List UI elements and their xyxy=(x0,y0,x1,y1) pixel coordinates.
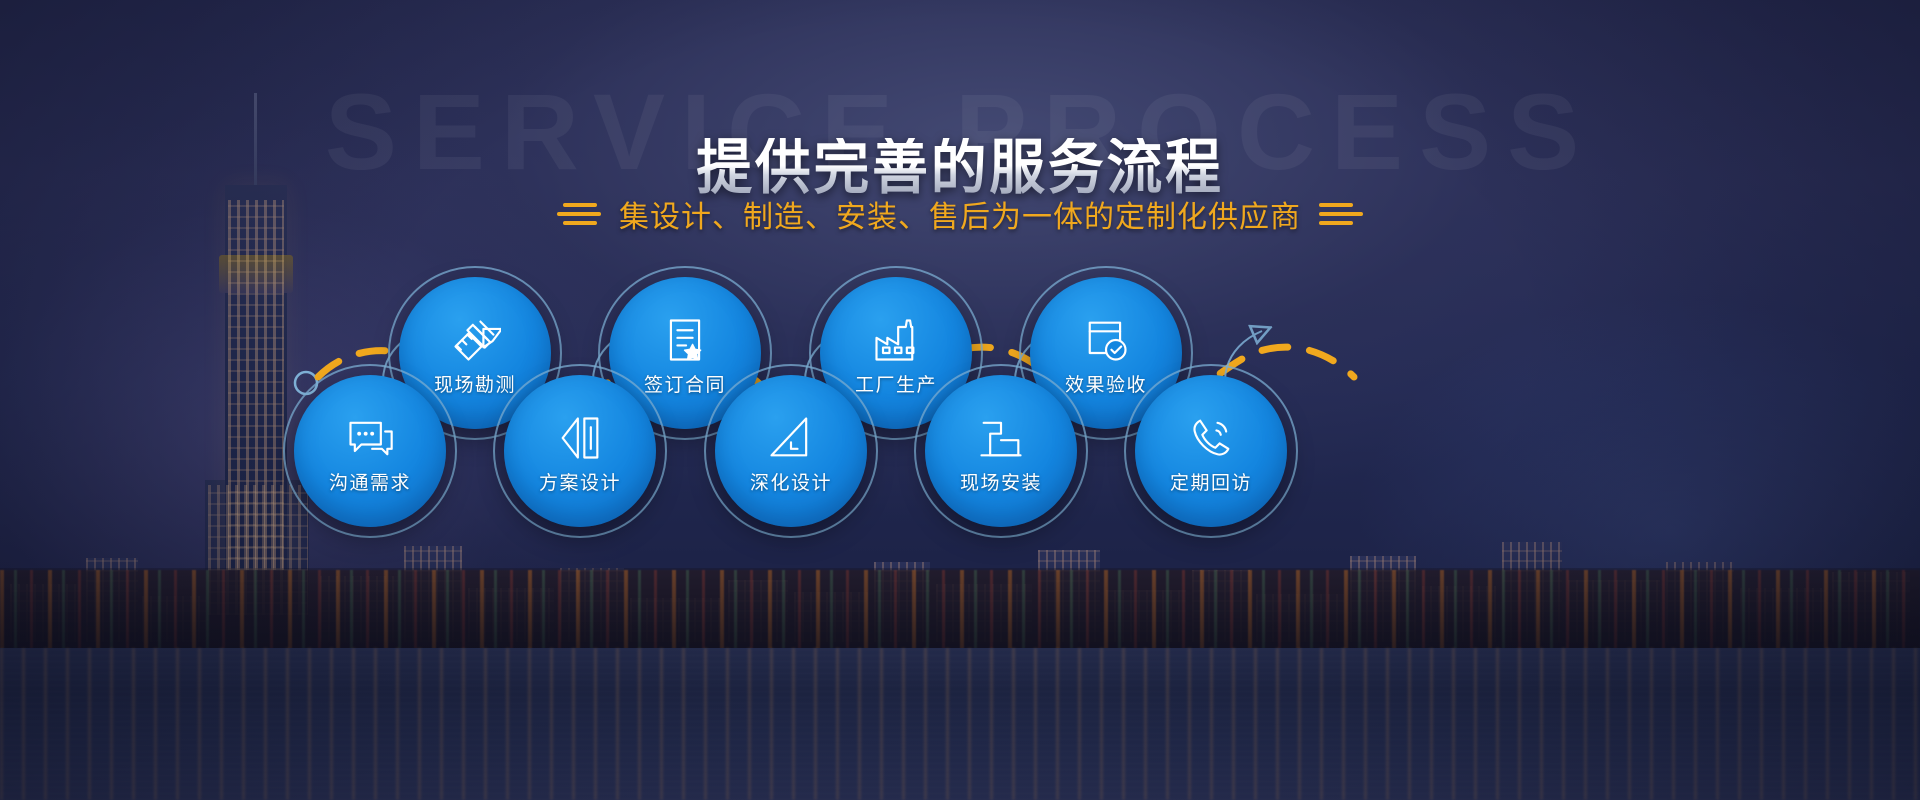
gold-dashes-left-icon xyxy=(557,203,601,225)
layout-panel-icon xyxy=(554,412,606,464)
subtitle-row: 集设计、制造、安装、售后为一体的定制化供应商 xyxy=(0,192,1920,236)
banner-stage: SERVICE PROCESS 提供完善的服务流程 集设计、制造、安装、售后为一… xyxy=(0,0,1920,800)
document-check-icon xyxy=(1080,314,1132,366)
step-label: 定期回访 xyxy=(1170,468,1252,495)
step-label: 现场安装 xyxy=(960,468,1042,495)
set-square-icon xyxy=(765,412,817,464)
step-disc[interactable]: 方案设计 xyxy=(504,375,656,527)
step-label: 沟通需求 xyxy=(329,468,411,495)
page-title: 提供完善的服务流程 xyxy=(67,138,1853,198)
page-subtitle: 集设计、制造、安装、售后为一体的定制化供应商 xyxy=(619,192,1301,236)
step-disc[interactable]: 定期回访 xyxy=(1135,375,1287,527)
process-flow: 现场勘测 签订合同 xyxy=(0,255,1920,545)
step-disc[interactable]: 沟通需求 xyxy=(294,375,446,527)
process-step-7[interactable]: 现场安装 xyxy=(925,375,1077,527)
process-step-3[interactable]: 方案设计 xyxy=(504,375,656,527)
factory-icon xyxy=(870,314,922,366)
step-label: 签订合同 xyxy=(644,370,726,397)
process-step-1[interactable]: 沟通需求 xyxy=(294,375,446,527)
contract-seal-icon xyxy=(659,314,711,366)
phone-call-icon xyxy=(1185,412,1237,464)
process-step-9[interactable]: 定期回访 xyxy=(1135,375,1287,527)
step-label: 方案设计 xyxy=(539,468,621,495)
process-step-5[interactable]: 深化设计 xyxy=(715,375,867,527)
step-disc[interactable]: 深化设计 xyxy=(715,375,867,527)
ruler-pencil-icon xyxy=(449,314,501,366)
gold-dashes-right-icon xyxy=(1319,203,1363,225)
install-tool-icon xyxy=(975,412,1027,464)
chat-bubble-icon xyxy=(344,412,396,464)
step-disc[interactable]: 现场安装 xyxy=(925,375,1077,527)
step-label: 深化设计 xyxy=(750,468,832,495)
